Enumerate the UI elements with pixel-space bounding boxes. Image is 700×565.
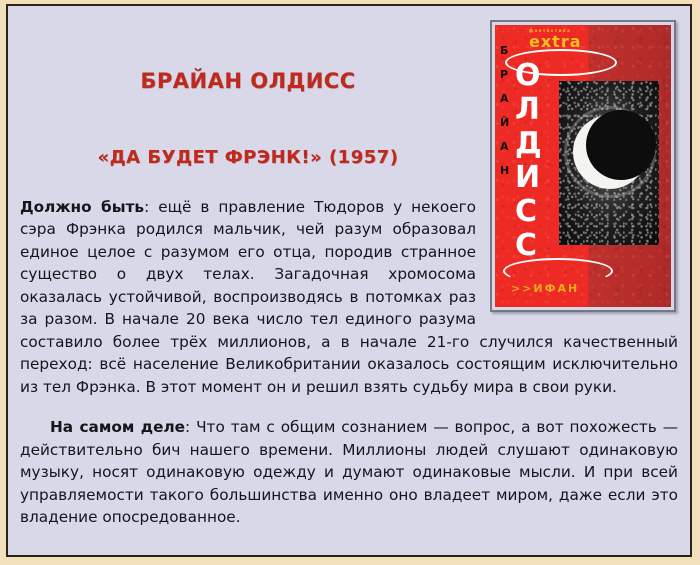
publisher-logo: >>ИФАН	[511, 283, 579, 294]
crescent-moon-icon	[573, 115, 647, 189]
article-inner: фантастика extra БРАЙАН ОЛДИСС	[8, 6, 690, 555]
paragraph-lead-2: На самом деле	[50, 418, 185, 436]
series-logo-text: extra	[529, 32, 582, 51]
book-cover-figure: фантастика extra БРАЙАН ОЛДИСС	[490, 20, 676, 312]
paragraph-lead-1: Должно быть	[20, 198, 144, 216]
book-cover[interactable]: фантастика extra БРАЙАН ОЛДИСС	[490, 20, 676, 312]
crescent-moon-photo	[559, 81, 659, 245]
paragraph-in-fact: На самом деле: Что там с общим сознанием…	[20, 416, 678, 528]
moon-shadow	[586, 110, 656, 180]
cover-author-vertical: БРАЙАН	[500, 45, 509, 189]
book-cover-background: фантастика extra БРАЙАН ОЛДИСС	[495, 25, 671, 307]
series-logo: фантастика extra	[529, 29, 582, 50]
article-card: фантастика extra БРАЙАН ОЛДИСС	[6, 4, 692, 557]
cover-title-vertical: ОЛДИСС	[515, 61, 542, 265]
